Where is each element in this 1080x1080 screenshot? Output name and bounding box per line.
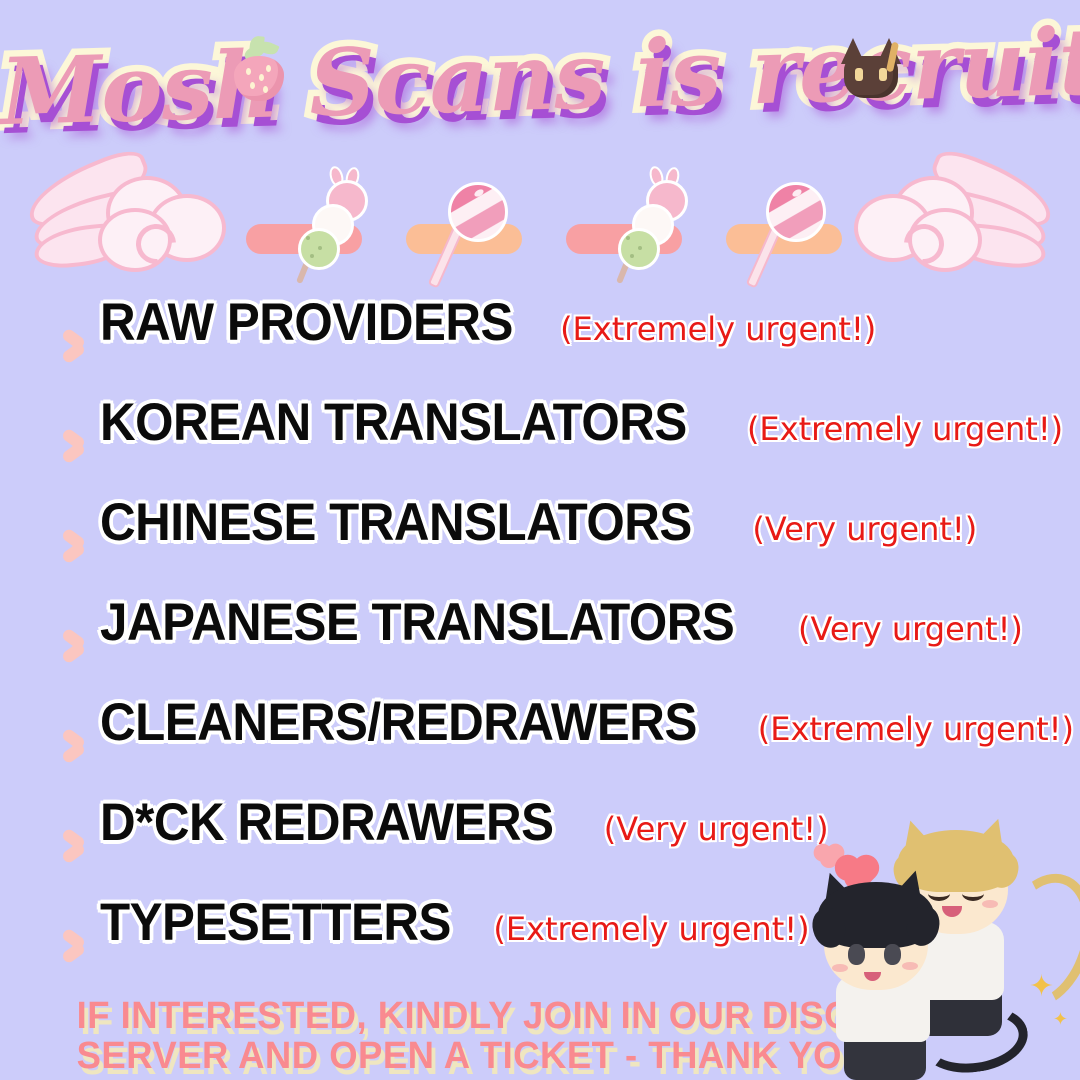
blush [832, 964, 848, 972]
role-title: CLEANERS/REDRAWERS [100, 696, 697, 749]
chevron-right-icon [56, 623, 92, 669]
star-icon: ✦ [1053, 1010, 1068, 1028]
character-hair [818, 882, 934, 948]
urgency-badge: (Extremely urgent!) [560, 313, 876, 345]
footer-line-1: IF INTERESTED, KINDLY JOIN IN OUR DISCOR… [77, 996, 874, 1036]
chevron-right-icon [56, 523, 92, 569]
dango-skewer-icon [292, 178, 372, 288]
list-item: CHINESE TRANSLATORS (Very urgent!) [0, 496, 1080, 596]
chevron-right-icon [56, 823, 92, 869]
decorative-divider [0, 162, 1080, 292]
eye [848, 944, 865, 965]
pixel-cat-icon [838, 38, 904, 100]
eye [884, 944, 901, 965]
footer-line-2: SERVER AND OPEN A TICKET - THANK YOU! [77, 1036, 874, 1076]
blush [982, 900, 998, 908]
role-title: D*CK REDRAWERS [100, 796, 554, 849]
title-area: Mosh Scans is recruiting! [0, 28, 1080, 158]
chevron-right-icon [56, 423, 92, 469]
urgency-badge: (Very urgent!) [604, 813, 829, 845]
eye [928, 886, 950, 901]
blush [902, 962, 918, 970]
list-item: KOREAN TRANSLATORS (Extremely urgent!) [0, 396, 1080, 496]
eye [962, 886, 984, 901]
strawberry-icon [228, 34, 290, 104]
urgency-badge: (Very urgent!) [752, 513, 977, 545]
list-item: JAPANESE TRANSLATORS (Very urgent!) [0, 596, 1080, 696]
chibi-catboys-illustration: ✦ ✦ [800, 830, 1080, 1080]
winged-cloud-right-icon [850, 168, 1070, 288]
dango-skewer-icon [612, 178, 692, 288]
role-title: TYPESETTERS [100, 896, 451, 949]
chevron-right-icon [56, 923, 92, 969]
page-title: Mosh Scans is recruiting! [0, 10, 1080, 138]
lollipop-icon [758, 178, 848, 288]
urgency-badge: (Very urgent!) [798, 613, 1023, 645]
list-item: CLEANERS/REDRAWERS (Extremely urgent!) [0, 696, 1080, 796]
list-item: RAW PROVIDERS (Extremely urgent!) [0, 296, 1080, 396]
winged-cloud-left-icon [10, 168, 230, 288]
chevron-right-icon [56, 723, 92, 769]
footer-callout: IF INTERESTED, KINDLY JOIN IN OUR DISCOR… [60, 996, 890, 1076]
role-title: JAPANESE TRANSLATORS [100, 596, 734, 649]
role-title: KOREAN TRANSLATORS [100, 396, 687, 449]
urgency-badge: (Extremely urgent!) [747, 413, 1063, 445]
lollipop-icon [440, 178, 530, 288]
urgency-badge: (Extremely urgent!) [493, 913, 809, 945]
role-title: RAW PROVIDERS [100, 296, 513, 349]
role-title: CHINESE TRANSLATORS [100, 496, 692, 549]
chevron-right-icon [56, 323, 92, 369]
urgency-badge: (Extremely urgent!) [758, 713, 1074, 745]
recruitment-poster: Mosh Scans is recruiting! [0, 0, 1080, 1080]
